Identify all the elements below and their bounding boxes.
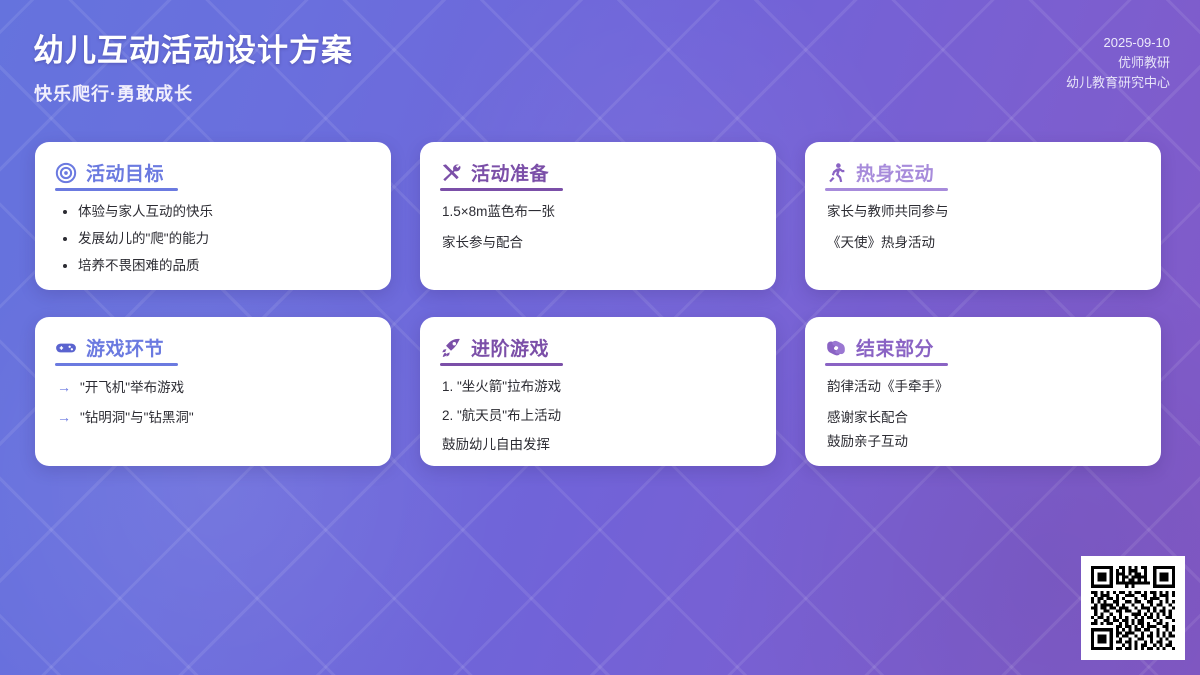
list-item: 感谢家长配合	[827, 409, 1141, 427]
card-activity-goals[interactable]: 活动目标 体验与家人互动的快乐 发展幼儿的"爬"的能力 培养不畏困难的品质	[35, 142, 391, 290]
qr-code[interactable]	[1081, 556, 1185, 660]
list-item: 鼓励幼儿自由发挥	[442, 436, 756, 454]
list-item: 韵律活动《手牵手》	[827, 378, 1141, 396]
card-advanced-games[interactable]: 进阶游戏 1. "坐火箭"拉布游戏 2. "航天员"布上活动 鼓励幼儿自由发挥	[420, 317, 776, 466]
card-header: 热身运动	[825, 159, 1141, 191]
list-item: 2. "航天员"布上活动	[442, 407, 756, 425]
gamepad-icon	[55, 337, 77, 359]
card-title: 游戏环节	[86, 334, 164, 361]
header-meta: 2025-09-10 优师教研 幼儿教育研究中心	[1066, 33, 1170, 93]
list-item: 培养不畏困难的品质	[78, 257, 371, 275]
target-icon	[55, 162, 77, 184]
card-closing[interactable]: 结束部分 韵律活动《手牵手》 感谢家长配合 鼓励亲子互动	[805, 317, 1161, 466]
card-body: 韵律活动《手牵手》 感谢家长配合 鼓励亲子互动	[825, 378, 1141, 451]
card-body: → "开飞机"举布游戏 → "钻明洞"与"钻黑洞"	[55, 378, 371, 427]
card-header: 游戏环节	[55, 334, 371, 366]
card-header: 活动目标	[55, 159, 371, 191]
meta-org: 优师教研	[1066, 53, 1170, 73]
rocket-icon	[440, 337, 462, 359]
arrow-right-icon: →	[57, 378, 71, 396]
card-body: 1. "坐火箭"拉布游戏 2. "航天员"布上活动 鼓励幼儿自由发挥	[440, 378, 756, 454]
page-title: 幼儿互动活动设计方案	[33, 25, 353, 70]
card-body: 家长与教师共同参与 《天使》热身活动	[825, 203, 1141, 252]
card-header: 进阶游戏	[440, 334, 756, 366]
arrow-right-icon: →	[57, 408, 71, 426]
card-title: 活动准备	[471, 159, 549, 186]
running-icon	[825, 162, 847, 184]
card-title: 进阶游戏	[471, 334, 549, 361]
list-item: 鼓励亲子互动	[827, 433, 1141, 451]
list-item: → "钻明洞"与"钻黑洞"	[57, 408, 371, 427]
presentation-slide: 幼儿互动活动设计方案 快乐爬行·勇敢成长 2025-09-10 优师教研 幼儿教…	[0, 0, 1200, 675]
card-body: 1.5×8m蓝色布一张 家长参与配合	[440, 203, 756, 252]
card-title: 热身运动	[856, 159, 934, 186]
slide-header: 幼儿互动活动设计方案 快乐爬行·勇敢成长 2025-09-10 优师教研 幼儿教…	[0, 0, 1200, 128]
list-item: 《天使》热身活动	[827, 234, 1141, 252]
card-title: 结束部分	[856, 334, 934, 361]
card-grid: 活动目标 体验与家人互动的快乐 发展幼儿的"爬"的能力 培养不畏困难的品质	[35, 142, 1166, 466]
card-body: 体验与家人互动的快乐 发展幼儿的"爬"的能力 培养不畏困难的品质	[55, 203, 371, 275]
list-item: 发展幼儿的"爬"的能力	[78, 230, 371, 248]
list-item: 家长参与配合	[442, 234, 756, 252]
list-item: 家长与教师共同参与	[827, 203, 1141, 221]
page-subtitle: 快乐爬行·勇敢成长	[34, 80, 193, 106]
handshake-icon	[825, 337, 847, 359]
card-header: 活动准备	[440, 159, 756, 191]
list-item: 体验与家人互动的快乐	[78, 203, 371, 221]
qr-code-image	[1088, 563, 1178, 653]
card-game-session[interactable]: 游戏环节 → "开飞机"举布游戏 → "钻明洞"与"钻黑洞"	[35, 317, 391, 466]
card-warm-up[interactable]: 热身运动 家长与教师共同参与 《天使》热身活动	[805, 142, 1161, 290]
list-item-label: "开飞机"举布游戏	[80, 379, 184, 397]
goal-list: 体验与家人互动的快乐 发展幼儿的"爬"的能力 培养不畏困难的品质	[57, 203, 371, 275]
list-item: → "开飞机"举布游戏	[57, 378, 371, 397]
card-title: 活动目标	[86, 159, 164, 186]
list-item-label: "钻明洞"与"钻黑洞"	[80, 409, 194, 427]
card-header: 结束部分	[825, 334, 1141, 366]
card-activity-preparation[interactable]: 活动准备 1.5×8m蓝色布一张 家长参与配合	[420, 142, 776, 290]
tools-icon	[440, 162, 462, 184]
list-item: 1. "坐火箭"拉布游戏	[442, 378, 756, 396]
meta-date: 2025-09-10	[1066, 33, 1170, 53]
list-item: 1.5×8m蓝色布一张	[442, 203, 756, 221]
meta-dept: 幼儿教育研究中心	[1066, 73, 1170, 93]
